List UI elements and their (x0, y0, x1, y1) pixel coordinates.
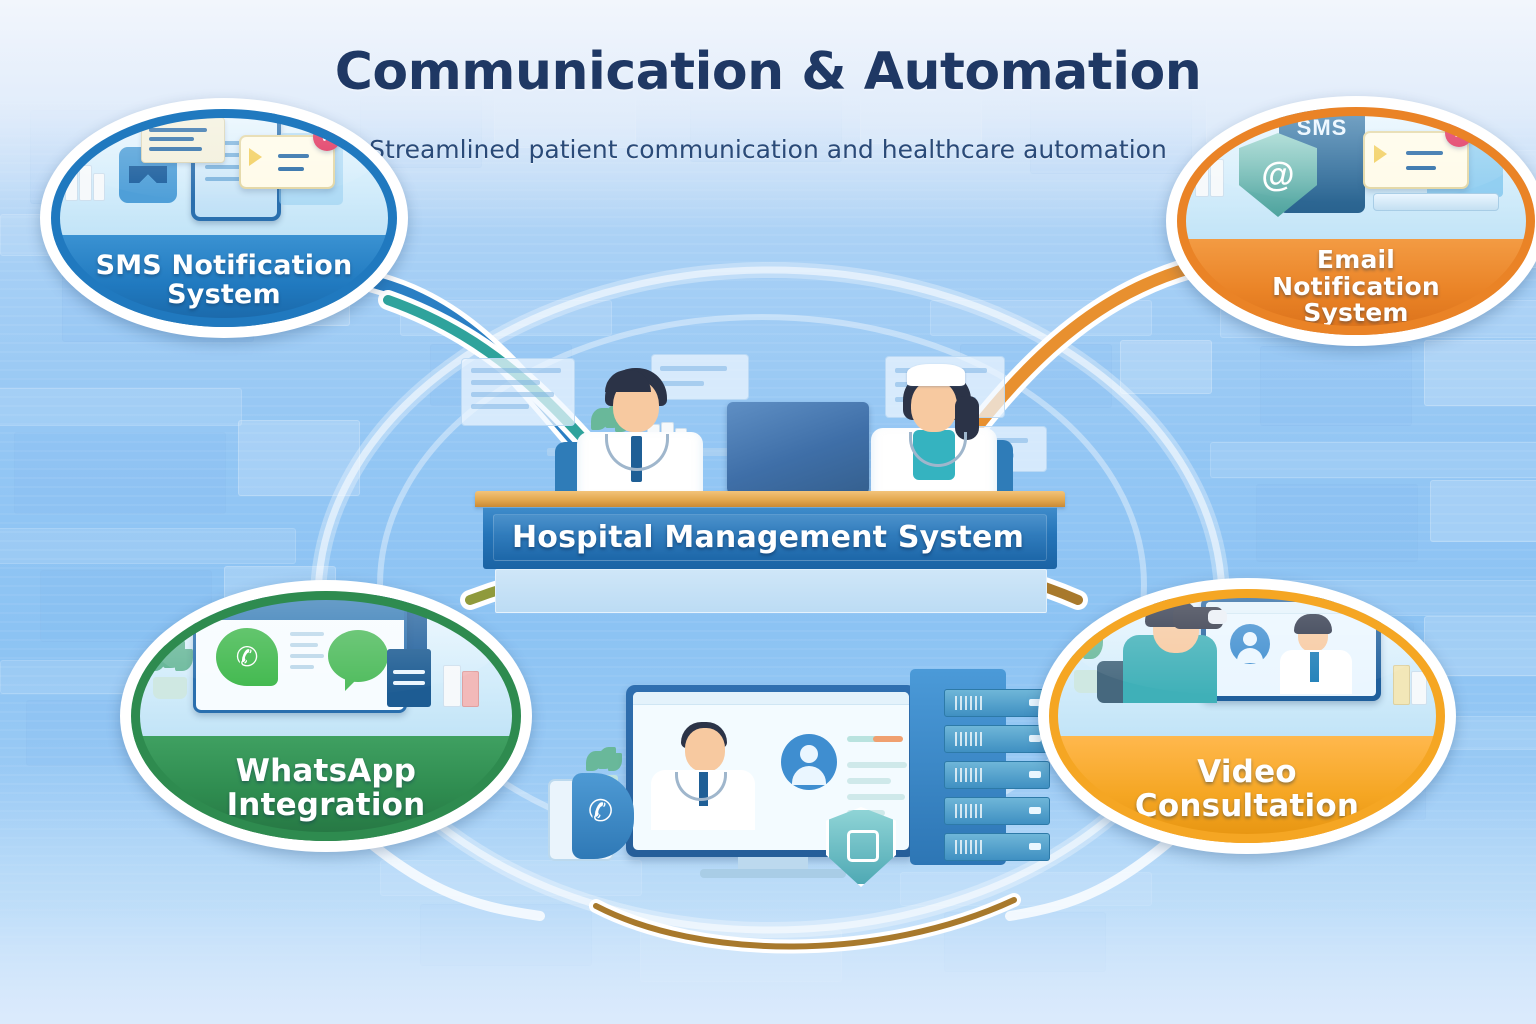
reception-desk-lower (495, 569, 1047, 613)
page-title: Communication & Automation (0, 42, 1536, 102)
hospital-management-system-scene (455, 352, 1085, 592)
node-video-consultation[interactable]: VideoConsultation (1038, 578, 1456, 854)
server-rack-icon (900, 669, 1048, 869)
doctor-figure (561, 368, 721, 500)
telehealth-scene: ✆ (548, 655, 1048, 905)
node-email-notification-system[interactable]: SMS @ ✓ EmailNotificationSystem (1166, 96, 1536, 346)
hospital-management-system-label: Hospital Management System (0, 520, 1536, 555)
desktop-monitor-icon (727, 402, 869, 494)
phone-contact-icon: ✆ (548, 773, 634, 863)
nurse-figure (855, 362, 1015, 502)
infographic-canvas: Communication & Automation Streamlined p… (0, 0, 1536, 1024)
reception-desk-top (475, 491, 1065, 507)
node-whatsapp-integration[interactable]: ✆ WhatsAppIntegration (120, 580, 532, 852)
node-sms-notification-system[interactable]: ✓ SMS NotificationSystem (40, 98, 408, 338)
telehealth-monitor-base (700, 869, 846, 878)
patient-avatar-icon (781, 734, 837, 790)
